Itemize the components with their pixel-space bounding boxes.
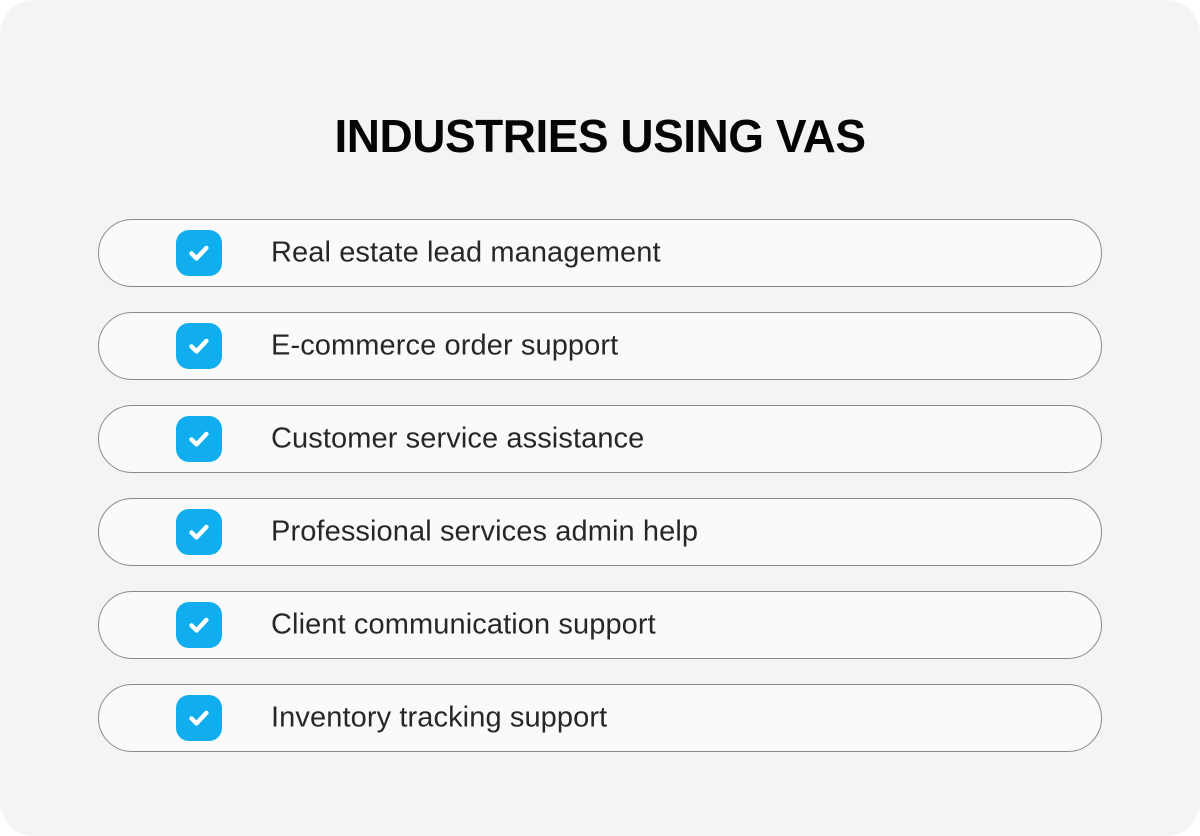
list-item-label: Customer service assistance [271, 423, 644, 456]
list-item-label: Professional services admin help [271, 516, 698, 549]
check-icon [186, 519, 212, 545]
industries-list: Real estate lead management E-commerce o… [98, 219, 1102, 752]
checkbox-checked[interactable] [176, 602, 222, 648]
check-icon [186, 705, 212, 731]
list-item-label: E-commerce order support [271, 330, 618, 363]
list-item[interactable]: Client communication support [98, 591, 1102, 659]
list-item-label: Real estate lead management [271, 237, 661, 270]
checkbox-checked[interactable] [176, 695, 222, 741]
checkbox-checked[interactable] [176, 509, 222, 555]
page-title: INDUSTRIES USING VAS [0, 108, 1200, 164]
list-item[interactable]: E-commerce order support [98, 312, 1102, 380]
list-item[interactable]: Customer service assistance [98, 405, 1102, 473]
list-item-label: Client communication support [271, 609, 656, 642]
list-item[interactable]: Real estate lead management [98, 219, 1102, 287]
checkbox-checked[interactable] [176, 230, 222, 276]
checkbox-checked[interactable] [176, 416, 222, 462]
checkbox-checked[interactable] [176, 323, 222, 369]
list-item[interactable]: Inventory tracking support [98, 684, 1102, 752]
list-item[interactable]: Professional services admin help [98, 498, 1102, 566]
check-icon [186, 612, 212, 638]
check-icon [186, 240, 212, 266]
list-item-label: Inventory tracking support [271, 702, 607, 735]
industries-card: INDUSTRIES USING VAS Real estate lead ma… [0, 0, 1200, 836]
check-icon [186, 426, 212, 452]
check-icon [186, 333, 212, 359]
